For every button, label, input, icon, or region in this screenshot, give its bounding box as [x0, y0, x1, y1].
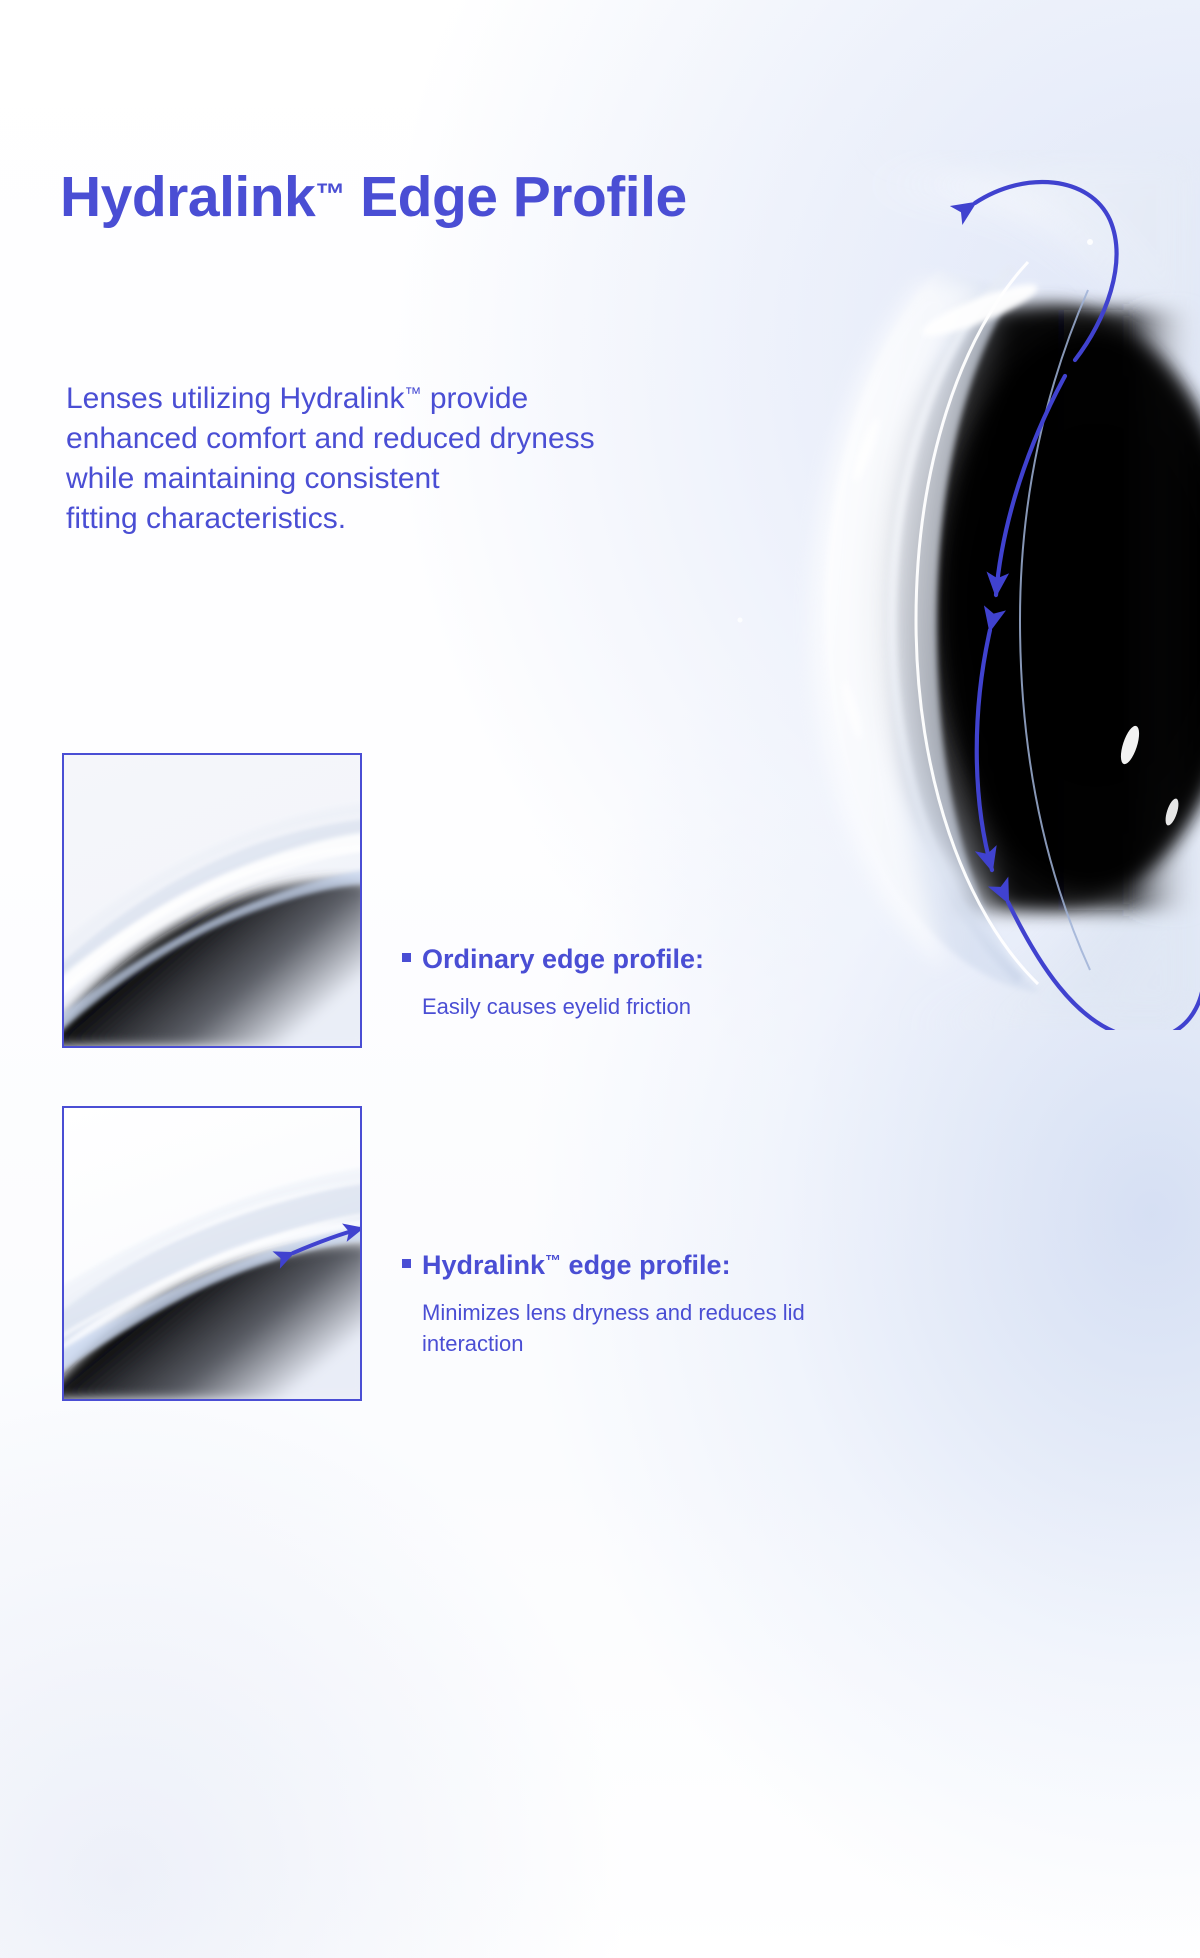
square-bullet-icon: [402, 953, 411, 962]
caption-ordinary-heading: Ordinary edge profile:: [402, 944, 704, 975]
caption-hydralink-subtext: Minimizes lens dryness and reduces lid i…: [422, 1297, 902, 1359]
hero-lens-illustration: [620, 150, 1200, 1030]
page-title-rest: Edge Profile: [345, 165, 687, 229]
page-title: Hydralink™ Edge Profile: [60, 164, 687, 230]
figure-hydralink-edge: [62, 1106, 362, 1401]
caption-hydralink-edge: Hydralink™ edge profile: Minimizes lens …: [402, 1250, 902, 1359]
caption-ordinary-subtext: Easily causes eyelid friction: [422, 991, 704, 1022]
intro-paragraph: Lenses utilizing Hydralink™ provideenhan…: [66, 374, 726, 539]
caption-hydralink-heading-text: Hydralink: [422, 1250, 545, 1280]
intro-line-4: fitting characteristics.: [66, 502, 346, 535]
caption-hydralink-heading: Hydralink™ edge profile:: [402, 1250, 902, 1281]
figure-ordinary-edge: [62, 753, 362, 1048]
caption-ordinary-heading-text: Ordinary edge profile:: [422, 944, 704, 975]
caption-ordinary-edge: Ordinary edge profile: Easily causes eye…: [402, 944, 704, 1022]
trademark-symbol: ™: [405, 384, 422, 403]
caption-hydralink-heading-rest: edge profile:: [561, 1250, 731, 1280]
page-title-main: Hydralink: [60, 165, 315, 229]
trademark-symbol: ™: [315, 178, 345, 211]
intro-line-3: while maintaining consistent: [66, 462, 440, 495]
intro-line-1: Lenses utilizing Hydralink: [66, 382, 405, 415]
caption-hydralink-heading-wrap: Hydralink™ edge profile:: [422, 1250, 731, 1281]
trademark-symbol: ™: [545, 1253, 561, 1270]
intro-line-1-rest: provide: [422, 382, 529, 415]
square-bullet-icon: [402, 1259, 411, 1268]
intro-line-2: enhanced comfort and reduced dryness: [66, 422, 595, 455]
